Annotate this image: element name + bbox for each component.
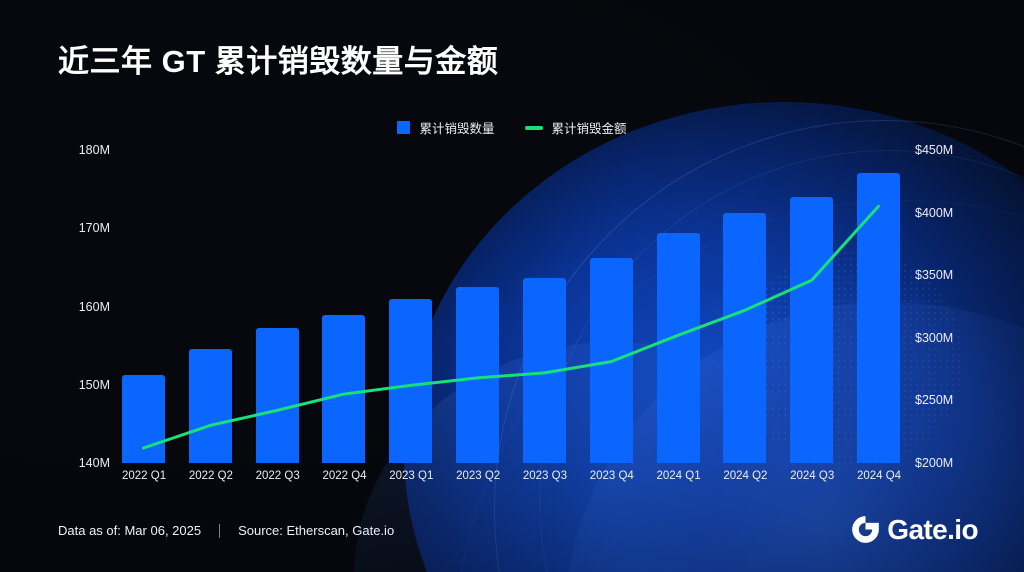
x-tick-2022-q2: 2022 Q2 bbox=[189, 470, 232, 488]
brand-name: Gate.io bbox=[887, 516, 978, 544]
x-tick-2024-q1: 2024 Q1 bbox=[657, 470, 700, 488]
y-axis-left: 140M150M160M170M180M bbox=[48, 150, 110, 463]
plot-area bbox=[122, 150, 900, 463]
y-left-tick-170M: 170M bbox=[79, 221, 110, 235]
y-right-tick-400M: $400M bbox=[915, 206, 953, 220]
burn-value-line bbox=[144, 206, 879, 448]
x-tick-2023-q2: 2023 Q2 bbox=[456, 470, 499, 488]
line-series bbox=[122, 148, 900, 465]
legend-label-burn-amount: 累计销毁数量 bbox=[419, 118, 494, 137]
y-left-tick-140M: 140M bbox=[79, 456, 110, 470]
x-tick-2023-q4: 2023 Q4 bbox=[590, 470, 633, 488]
data-as-of-label: Data as of: Mar 06, 2025 bbox=[58, 523, 201, 538]
legend-label-burn-value: 累计销毁金额 bbox=[552, 118, 627, 137]
source-label: Source: Etherscan, Gate.io bbox=[238, 523, 394, 538]
footer-divider bbox=[219, 524, 220, 538]
x-tick-2024-q3: 2024 Q3 bbox=[790, 470, 833, 488]
y-left-tick-160M: 160M bbox=[79, 300, 110, 314]
page-title: 近三年 GT 累计销毁数量与金额 bbox=[58, 36, 498, 81]
y-left-tick-180M: 180M bbox=[79, 143, 110, 157]
x-tick-2024-q4: 2024 Q4 bbox=[857, 470, 900, 488]
x-tick-2024-q2: 2024 Q2 bbox=[723, 470, 766, 488]
y-left-tick-150M: 150M bbox=[79, 378, 110, 392]
y-axis-right: $200M$250M$300M$350M$400M$450M bbox=[915, 150, 995, 463]
x-tick-2022-q4: 2022 Q4 bbox=[322, 470, 365, 488]
y-right-tick-350M: $350M bbox=[915, 268, 953, 282]
x-tick-2022-q1: 2022 Q1 bbox=[122, 470, 165, 488]
x-tick-2023-q1: 2023 Q1 bbox=[389, 470, 432, 488]
x-axis: 2022 Q12022 Q22022 Q32022 Q42023 Q12023 … bbox=[122, 470, 900, 488]
legend-bar-swatch-icon bbox=[397, 121, 410, 134]
x-tick-2023-q3: 2023 Q3 bbox=[523, 470, 566, 488]
x-tick-2022-q3: 2022 Q3 bbox=[256, 470, 299, 488]
legend-item-burn-amount[interactable]: 累计销毁数量 bbox=[397, 118, 494, 137]
footer-meta: Data as of: Mar 06, 2025 Source: Ethersc… bbox=[58, 523, 394, 538]
y-right-tick-300M: $300M bbox=[915, 331, 953, 345]
gate-g-icon bbox=[851, 515, 880, 544]
legend-item-burn-value[interactable]: 累计销毁金额 bbox=[525, 118, 627, 137]
brand-logo: Gate.io bbox=[851, 515, 978, 544]
legend-line-swatch-icon bbox=[525, 126, 543, 130]
chart-legend: 累计销毁数量 累计销毁金额 bbox=[0, 118, 1024, 137]
y-right-tick-250M: $250M bbox=[915, 393, 953, 407]
chart-canvas: 近三年 GT 累计销毁数量与金额 累计销毁数量 累计销毁金额 140M150M1… bbox=[0, 0, 1024, 572]
y-right-tick-200M: $200M bbox=[915, 456, 953, 470]
y-right-tick-450M: $450M bbox=[915, 143, 953, 157]
